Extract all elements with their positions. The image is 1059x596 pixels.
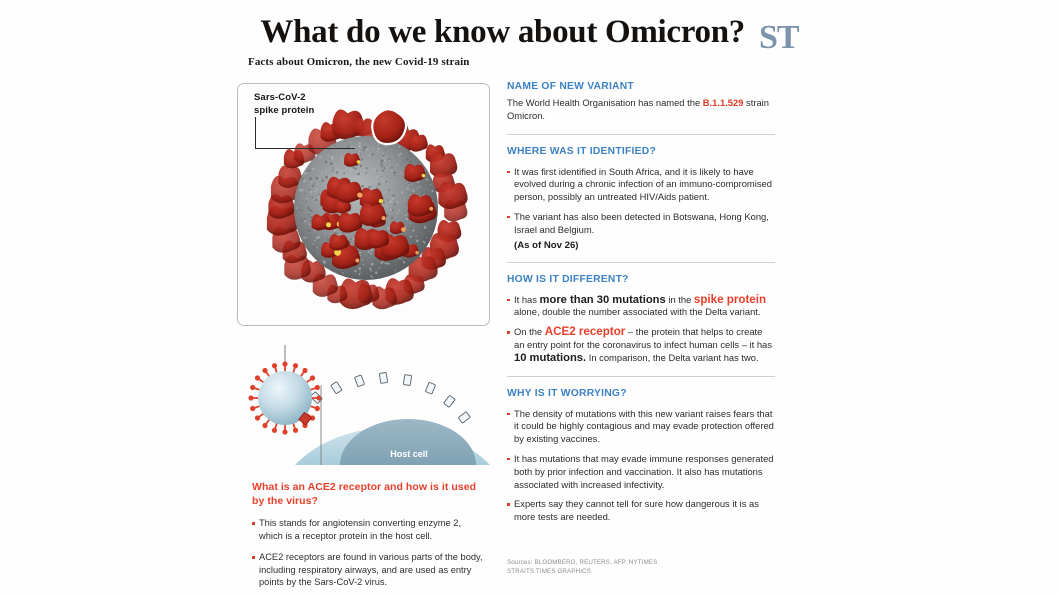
section-divider bbox=[507, 134, 775, 135]
bullet-text: It has mutations that may evade immune r… bbox=[514, 453, 774, 490]
bullet-icon bbox=[252, 556, 255, 559]
ace2-text-c: In comparison, the Delta variant has two… bbox=[586, 352, 758, 363]
host-cell-label: Host cell bbox=[390, 449, 428, 459]
virus-label-line2: spike protein bbox=[254, 105, 314, 116]
ace2-heading-line1: What is an ACE2 receptor and how is it u… bbox=[252, 481, 476, 493]
as-of-date-note: (As of Nov 26) bbox=[507, 240, 775, 251]
virion-small bbox=[248, 361, 321, 434]
header: What do we know about Omicron?ST bbox=[0, 12, 1059, 55]
bullet-text: Experts say they cannot tell for sure ho… bbox=[514, 498, 759, 522]
page-title: What do we know about Omicron? bbox=[260, 12, 745, 52]
bullet-icon bbox=[507, 171, 510, 174]
section-why-is-it-worrying: WHY IS IT WORRYING? The density of mutat… bbox=[507, 387, 775, 524]
section-heading: WHERE WAS IT IDENTIFIED? bbox=[507, 145, 775, 159]
virus-illustration-column: Sars-CoV-2 spike protein bbox=[237, 83, 490, 326]
section-body: The World Health Organisation has named … bbox=[507, 97, 775, 123]
section-heading: NAME OF NEW VARIANT bbox=[507, 80, 775, 94]
subtitle: Facts about Omicron, the new Covid-19 st… bbox=[248, 56, 469, 68]
bullet-text: The density of mutations with this new v… bbox=[514, 408, 774, 445]
virus-label-line1: Sars-CoV-2 bbox=[254, 92, 306, 103]
coronavirus-particle-icon bbox=[250, 86, 482, 326]
bullet-icon bbox=[507, 216, 510, 219]
ace2-heading: What is an ACE2 receptor and how is it u… bbox=[252, 480, 484, 508]
sources-line-2: STRAITS TIMES GRAPHICS bbox=[507, 567, 657, 576]
section-bullet: On the ACE2 receptor – the protein that … bbox=[507, 326, 775, 364]
bullet-text: The variant has also been detected in Bo… bbox=[514, 211, 769, 235]
strain-code: B.1.1.529 bbox=[703, 97, 744, 108]
virus-panel: Sars-CoV-2 spike protein bbox=[237, 83, 490, 326]
ace2-mutation-count-emphasis: 10 mutations. bbox=[514, 352, 586, 364]
sources-line-1: Sources: BLOOMBERG, REUTERS, AFP, NYTIME… bbox=[507, 558, 657, 567]
section-heading: WHY IS IT WORRYING? bbox=[507, 387, 775, 401]
ace2-paragraph-1-text: This stands for angiotensin converting e… bbox=[259, 518, 461, 541]
section-heading: HOW IS IT DIFFERENT? bbox=[507, 273, 775, 287]
section-where-was-it-identified: WHERE WAS IT IDENTIFIED? It was first id… bbox=[507, 145, 775, 251]
bullet-icon bbox=[507, 331, 510, 334]
ace2-paragraph-2-text: ACE2 receptors are found in various part… bbox=[259, 552, 483, 587]
bullet-icon bbox=[507, 299, 510, 302]
mutation-text-a: It has bbox=[514, 294, 540, 305]
section-bullet: It has more than 30 mutations in the spi… bbox=[507, 294, 775, 320]
callout-line-vertical bbox=[255, 117, 256, 149]
section-bullet: It has mutations that may evade immune r… bbox=[507, 453, 775, 491]
mutation-count-emphasis: more than 30 mutations bbox=[540, 294, 666, 306]
bullet-icon bbox=[252, 522, 255, 525]
mutation-text-c: alone, double the number associated with… bbox=[514, 306, 761, 317]
ace2-text-a: On the bbox=[514, 326, 545, 337]
ace2-receptor-emphasis: ACE2 receptor bbox=[545, 325, 626, 338]
spike-protein-emphasis: spike protein bbox=[694, 293, 766, 306]
bullet-text: It was first identified in South Africa,… bbox=[514, 166, 772, 203]
section-divider bbox=[507, 376, 775, 377]
mutation-text-b: in the bbox=[666, 294, 694, 305]
bullet-icon bbox=[507, 413, 510, 416]
facts-column: NAME OF NEW VARIANT The World Health Org… bbox=[507, 80, 775, 524]
ace2-explainer: What is an ACE2 receptor and how is it u… bbox=[252, 480, 484, 589]
section-divider bbox=[507, 262, 775, 263]
section-bullet: It was first identified in South Africa,… bbox=[507, 166, 775, 204]
ace2-paragraph-1: This stands for angiotensin converting e… bbox=[252, 517, 484, 542]
straits-times-logo: ST bbox=[759, 21, 799, 55]
sources-credit: Sources: BLOOMBERG, REUTERS, AFP, NYTIME… bbox=[507, 558, 657, 576]
ace2-paragraph-2: ACE2 receptors are found in various part… bbox=[252, 551, 484, 589]
section-bullet: Experts say they cannot tell for sure ho… bbox=[507, 498, 775, 524]
section-bullet: The variant has also been detected in Bo… bbox=[507, 211, 775, 237]
section-how-is-it-different: HOW IS IT DIFFERENT? It has more than 30… bbox=[507, 273, 775, 365]
highlighted-spike bbox=[372, 109, 406, 144]
variant-intro-a: The World Health Organisation has named … bbox=[507, 97, 703, 108]
infographic-page: What do we know about Omicron?ST Facts a… bbox=[0, 0, 1059, 596]
host-cell-diagram: Host cell bbox=[237, 345, 490, 465]
bullet-icon bbox=[507, 458, 510, 461]
bullet-icon bbox=[507, 503, 510, 506]
section-bullet: The density of mutations with this new v… bbox=[507, 408, 775, 446]
section-name-of-new-variant: NAME OF NEW VARIANT The World Health Org… bbox=[507, 80, 775, 123]
callout-line-horizontal bbox=[255, 148, 355, 149]
ace2-heading-line2: by the virus? bbox=[252, 495, 318, 507]
spike-protein-callout-label: Sars-CoV-2 spike protein bbox=[254, 92, 314, 117]
